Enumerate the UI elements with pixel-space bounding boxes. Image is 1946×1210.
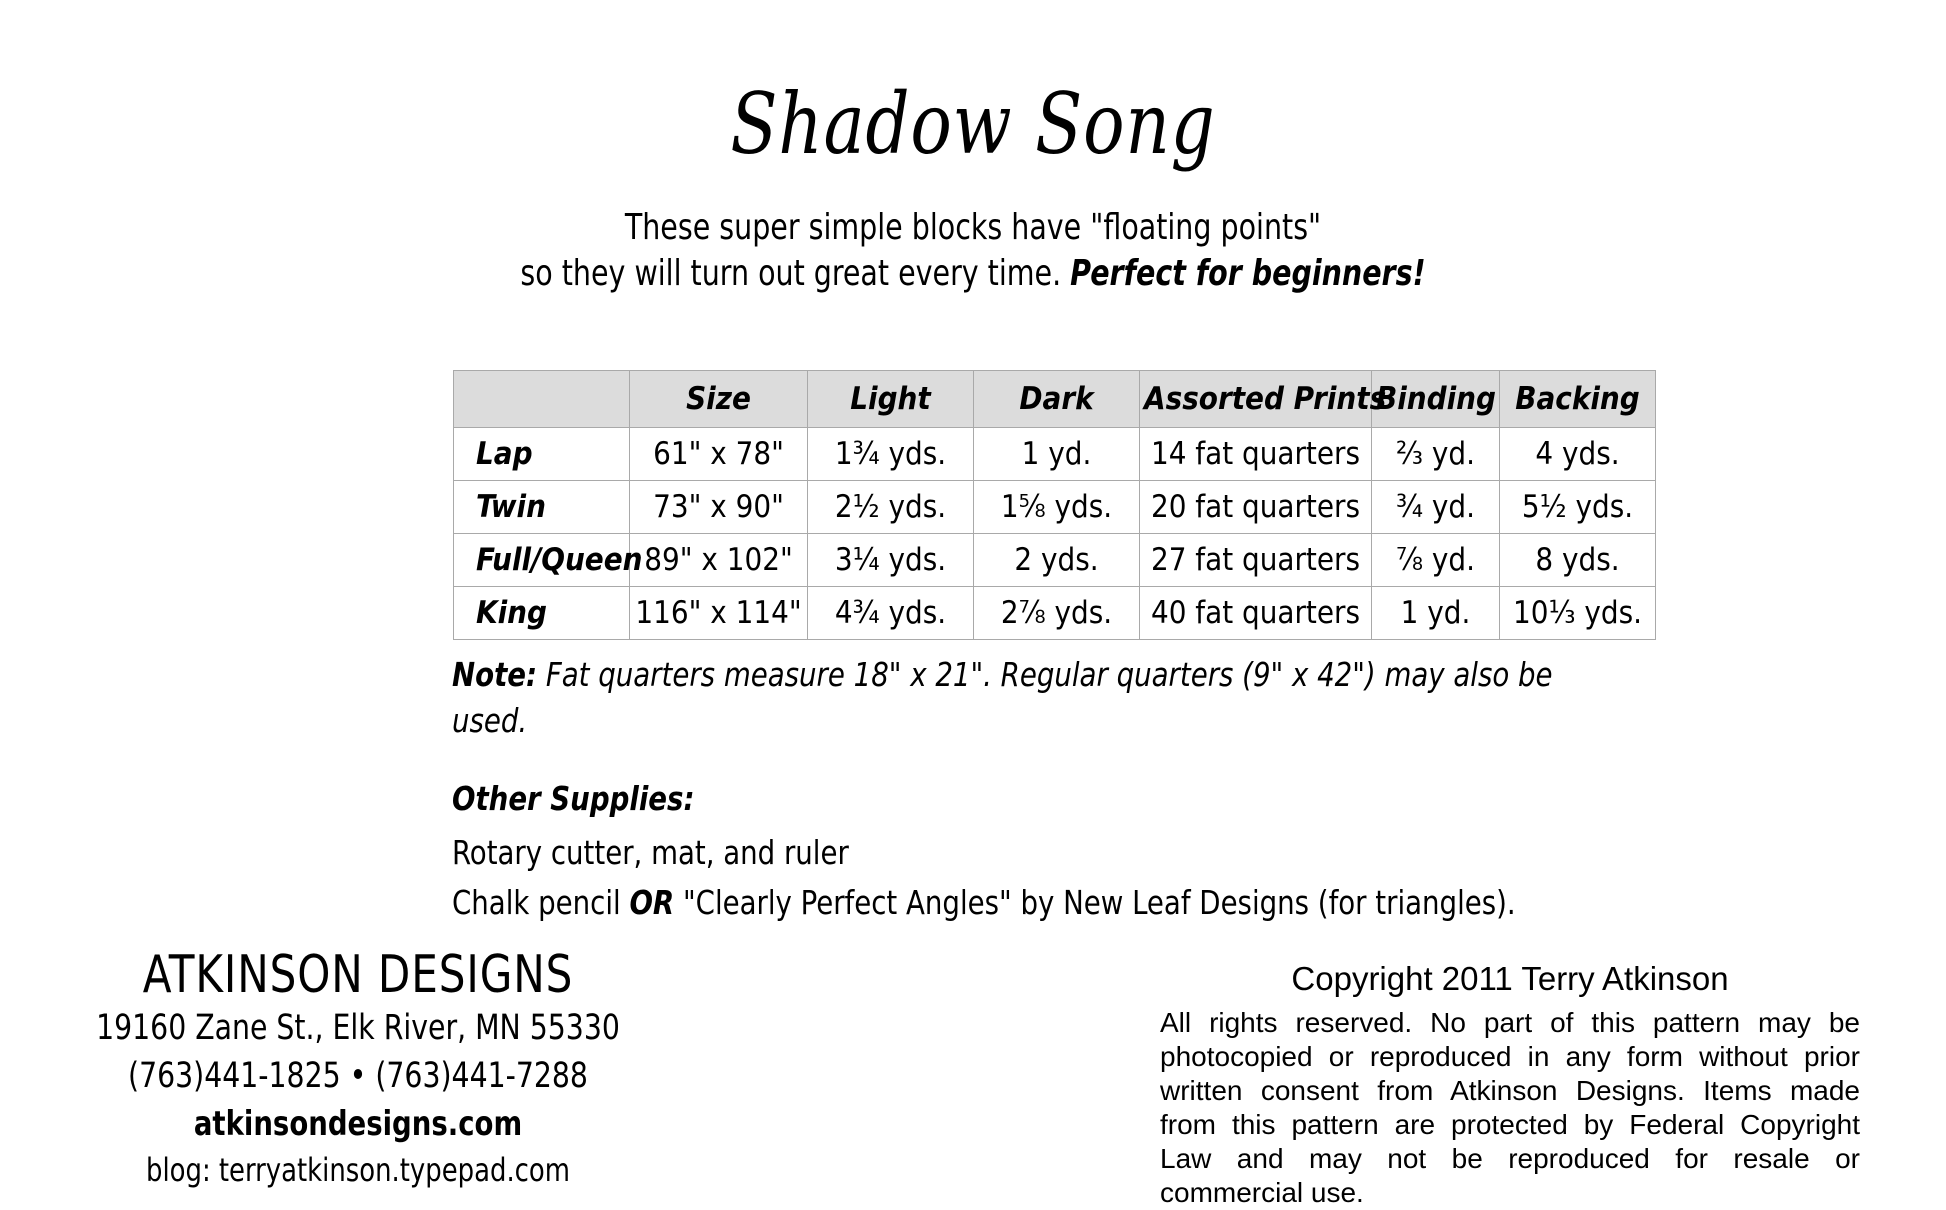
cell-full-queen-binding: ⅞ yd. xyxy=(1372,534,1500,587)
copyright-heading: Copyright 2011 Terry Atkinson xyxy=(1160,958,1860,1000)
cell-king-prints: 40 fat quarters xyxy=(1140,587,1372,640)
cell-lap-prints: 14 fat quarters xyxy=(1140,428,1372,481)
cell-lap-backing: 4 yds. xyxy=(1500,428,1656,481)
fat-quarter-note: Note: Fat quarters measure 18" x 21". Re… xyxy=(452,652,1605,744)
supply-marking-or: OR xyxy=(629,883,674,922)
cell-twin-light: 2½ yds. xyxy=(808,481,974,534)
table-header-size: Size xyxy=(630,371,808,428)
cell-twin-dark: 1⅝ yds. xyxy=(974,481,1140,534)
cell-full-queen-size: 89" x 102" xyxy=(630,534,808,587)
note-label: Note: xyxy=(452,655,537,694)
table-header-light: Light xyxy=(808,371,974,428)
supply-marking-after: "Clearly Perfect Angles" by New Leaf Des… xyxy=(674,883,1515,922)
supply-marking-before: Chalk pencil xyxy=(452,883,629,922)
cell-king-size: 116" x 114" xyxy=(630,587,808,640)
cell-lap-light: 1¾ yds. xyxy=(808,428,974,481)
cell-king-dark: 2⅞ yds. xyxy=(974,587,1140,640)
company-blog[interactable]: blog: terryatkinson.typepad.com xyxy=(61,1148,655,1192)
table-header-binding: Binding xyxy=(1372,371,1500,428)
cell-lap-binding: ⅔ yd. xyxy=(1372,428,1500,481)
table-header-blank xyxy=(454,371,630,428)
table-row: Lap 61" x 78" 1¾ yds. 1 yd. 14 fat quart… xyxy=(454,428,1656,481)
cell-king-backing: 10⅓ yds. xyxy=(1500,587,1656,640)
table-row: Twin 73" x 90" 2½ yds. 1⅝ yds. 20 fat qu… xyxy=(454,481,1656,534)
subtitle-emphasis: Perfect for beginners! xyxy=(1070,253,1425,294)
subtitle-line-1: These super simple blocks have "floating… xyxy=(117,205,1829,251)
cell-full-queen-light: 3¼ yds. xyxy=(808,534,974,587)
company-website[interactable]: atkinsondesigns.com xyxy=(61,1100,655,1148)
notes-section: Note: Fat quarters measure 18" x 21". Re… xyxy=(452,652,1605,930)
yardage-table: Size Light Dark Assorted Prints Binding … xyxy=(453,370,1656,640)
cell-full-queen-prints: 27 fat quarters xyxy=(1140,534,1372,587)
cell-twin-size: 73" x 90" xyxy=(630,481,808,534)
table-header-assorted-prints: Assorted Prints xyxy=(1140,371,1372,428)
other-supplies-heading: Other Supplies: xyxy=(452,776,1605,822)
subtitle-line-2: so they will turn out great every time. … xyxy=(117,251,1829,297)
cell-king-light: 4¾ yds. xyxy=(808,587,974,640)
company-phone: (763)441-1825 • (763)441-7288 xyxy=(61,1052,655,1100)
table-row: King 116" x 114" 4¾ yds. 2⅞ yds. 40 fat … xyxy=(454,587,1656,640)
company-name: ATKINSON DESIGNS xyxy=(61,946,655,1004)
row-label-twin: Twin xyxy=(454,481,630,534)
company-info-block: ATKINSON DESIGNS 19160 Zane St., Elk Riv… xyxy=(61,946,655,1192)
cell-twin-binding: ¾ yd. xyxy=(1372,481,1500,534)
yardage-table-container: Size Light Dark Assorted Prints Binding … xyxy=(453,370,1655,640)
table-header-backing: Backing xyxy=(1500,371,1656,428)
subtitle-line-2-text: so they will turn out great every time. xyxy=(520,253,1070,294)
company-address: 19160 Zane St., Elk River, MN 55330 xyxy=(61,1004,655,1052)
row-label-full-queen: Full/Queen xyxy=(454,534,630,587)
cell-king-binding: 1 yd. xyxy=(1372,587,1500,640)
cell-lap-size: 61" x 78" xyxy=(630,428,808,481)
note-text: Fat quarters measure 18" x 21". Regular … xyxy=(452,655,1553,740)
cell-twin-prints: 20 fat quarters xyxy=(1140,481,1372,534)
table-header-dark: Dark xyxy=(974,371,1140,428)
copyright-body: All rights reserved. No part of this pat… xyxy=(1160,1006,1860,1210)
row-label-lap: Lap xyxy=(454,428,630,481)
row-label-king: King xyxy=(454,587,630,640)
cell-twin-backing: 5½ yds. xyxy=(1500,481,1656,534)
cell-full-queen-backing: 8 yds. xyxy=(1500,534,1656,587)
table-header-row: Size Light Dark Assorted Prints Binding … xyxy=(454,371,1656,428)
page-title: Shadow Song xyxy=(175,82,1771,166)
table-row: Full/Queen 89" x 102" 3¼ yds. 2 yds. 27 … xyxy=(454,534,1656,587)
cell-full-queen-dark: 2 yds. xyxy=(974,534,1140,587)
subtitle-block: These super simple blocks have "floating… xyxy=(117,205,1829,297)
copyright-block: Copyright 2011 Terry Atkinson All rights… xyxy=(1160,958,1860,1210)
cell-lap-dark: 1 yd. xyxy=(974,428,1140,481)
supply-item-tools: Rotary cutter, mat, and ruler xyxy=(452,830,1605,876)
supply-item-marking: Chalk pencil OR "Clearly Perfect Angles"… xyxy=(452,880,1605,926)
